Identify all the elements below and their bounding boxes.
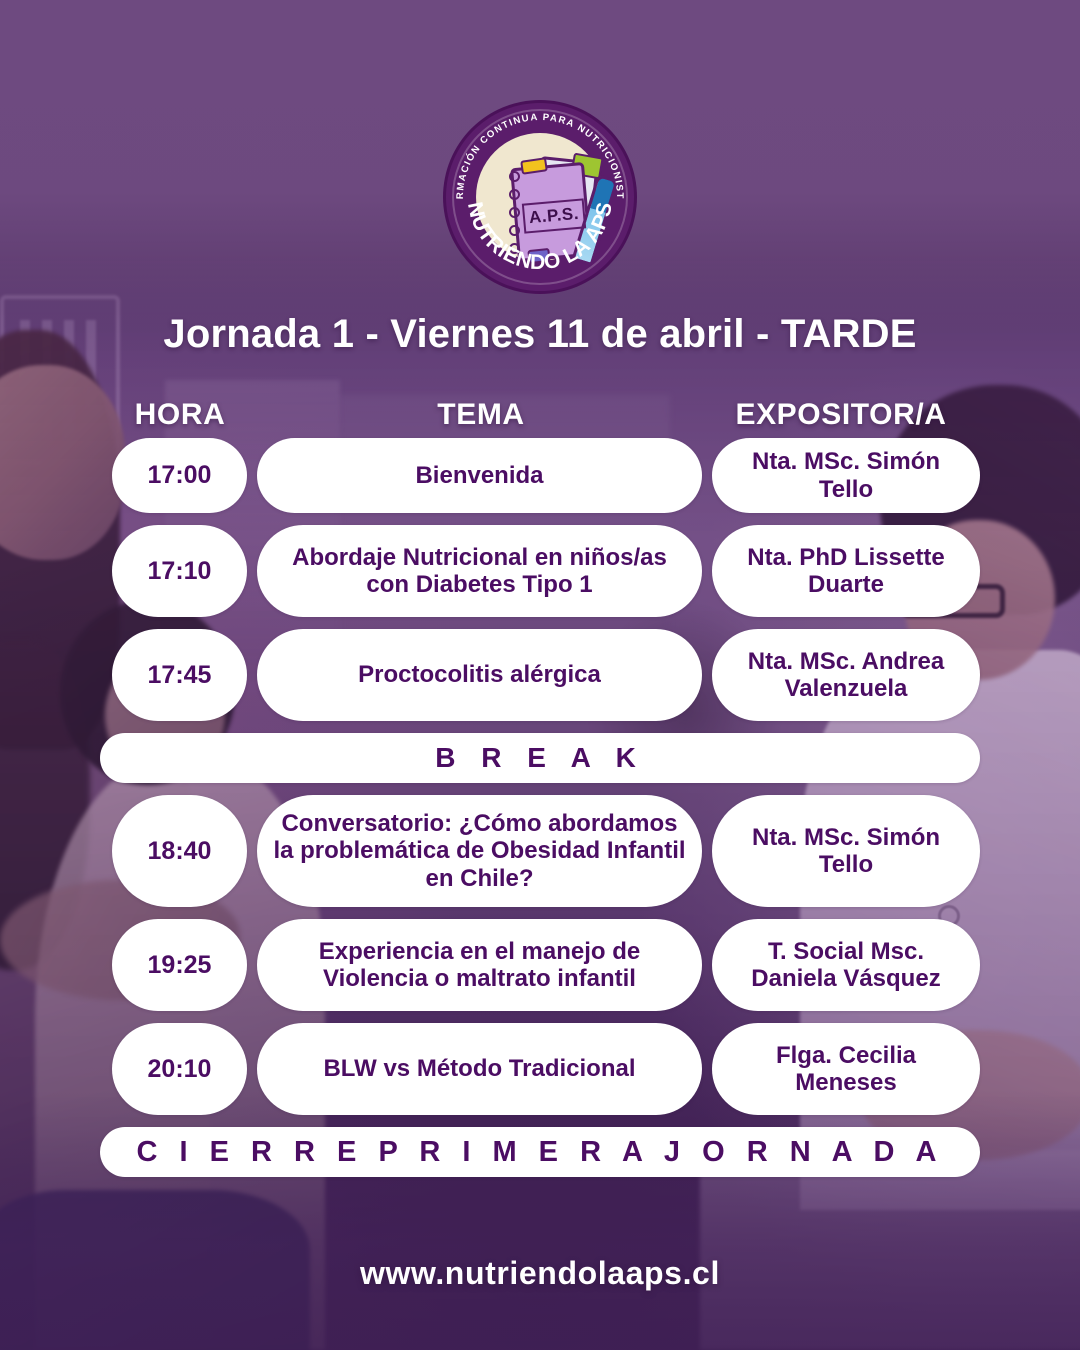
cell-hora: 20:10: [112, 1023, 247, 1115]
table-row: 19:25 Experiencia en el manejo de Violen…: [100, 919, 980, 1011]
cell-expositor: Nta. MSc. Simón Tello: [712, 795, 980, 907]
cell-tema: BLW vs Método Tradicional: [257, 1023, 702, 1115]
schedule-table: HORA TEMA EXPOSITOR/A 17:00 Bienvenida N…: [0, 398, 1080, 1177]
cell-hora: 17:45: [112, 629, 247, 721]
cell-tema: Proctocolitis alérgica: [257, 629, 702, 721]
column-header-tema: TEMA: [260, 398, 702, 432]
table-body: 17:00 Bienvenida Nta. MSc. Simón Tello 1…: [0, 438, 1080, 1177]
cell-expositor: Nta. PhD Lissette Duarte: [712, 525, 980, 617]
logo-arc-top-text: FORMACIÓN CONTINUA PARA NUTRICIONISTAS: [446, 103, 625, 199]
cell-tema: Conversatorio: ¿Cómo abordamos la proble…: [257, 795, 702, 907]
column-header-expositor: EXPOSITOR/A: [702, 398, 980, 432]
table-row: 17:10 Abordaje Nutricional en niños/as c…: [100, 525, 980, 617]
cell-hora: 18:40: [112, 795, 247, 907]
cell-hora: 17:10: [112, 525, 247, 617]
cell-expositor: Nta. MSc. Andrea Valenzuela: [712, 629, 980, 721]
column-header-hora: HORA: [100, 398, 260, 432]
page-title: Jornada 1 - Viernes 11 de abril - TARDE: [0, 312, 1080, 357]
brand-logo: A.P.S. FORMACIÓN CONTINUA PARA NUTRICION…: [446, 103, 634, 291]
poster-root: A.P.S. FORMACIÓN CONTINUA PARA NUTRICION…: [0, 0, 1080, 1350]
table-row: 17:00 Bienvenida Nta. MSc. Simón Tello: [100, 438, 980, 513]
cell-expositor: Nta. MSc. Simón Tello: [712, 438, 980, 513]
cell-expositor: Flga. Cecilia Meneses: [712, 1023, 980, 1115]
cell-hora: 17:00: [112, 438, 247, 513]
logo-arc-bottom-text: NUTRIENDO LA APS: [463, 200, 617, 274]
cell-expositor: T. Social Msc. Daniela Vásquez: [712, 919, 980, 1011]
table-row: 18:40 Conversatorio: ¿Cómo abordamos la …: [100, 795, 980, 907]
cell-tema: Abordaje Nutricional en niños/as con Dia…: [257, 525, 702, 617]
closing-bar: C I E R R E P R I M E R A J O R N A D A: [100, 1127, 980, 1177]
break-bar: B R E A K: [100, 733, 980, 783]
cell-tema: Experiencia en el manejo de Violencia o …: [257, 919, 702, 1011]
table-header-row: HORA TEMA EXPOSITOR/A: [0, 398, 1080, 432]
cell-hora: 19:25: [112, 919, 247, 1011]
cell-tema: Bienvenida: [257, 438, 702, 513]
logo-arc-text: FORMACIÓN CONTINUA PARA NUTRICIONISTAS N…: [446, 103, 634, 291]
table-row: 20:10 BLW vs Método Tradicional Flga. Ce…: [100, 1023, 980, 1115]
website-url: www.nutriendolaaps.cl: [0, 1255, 1080, 1292]
table-row: 17:45 Proctocolitis alérgica Nta. MSc. A…: [100, 629, 980, 721]
